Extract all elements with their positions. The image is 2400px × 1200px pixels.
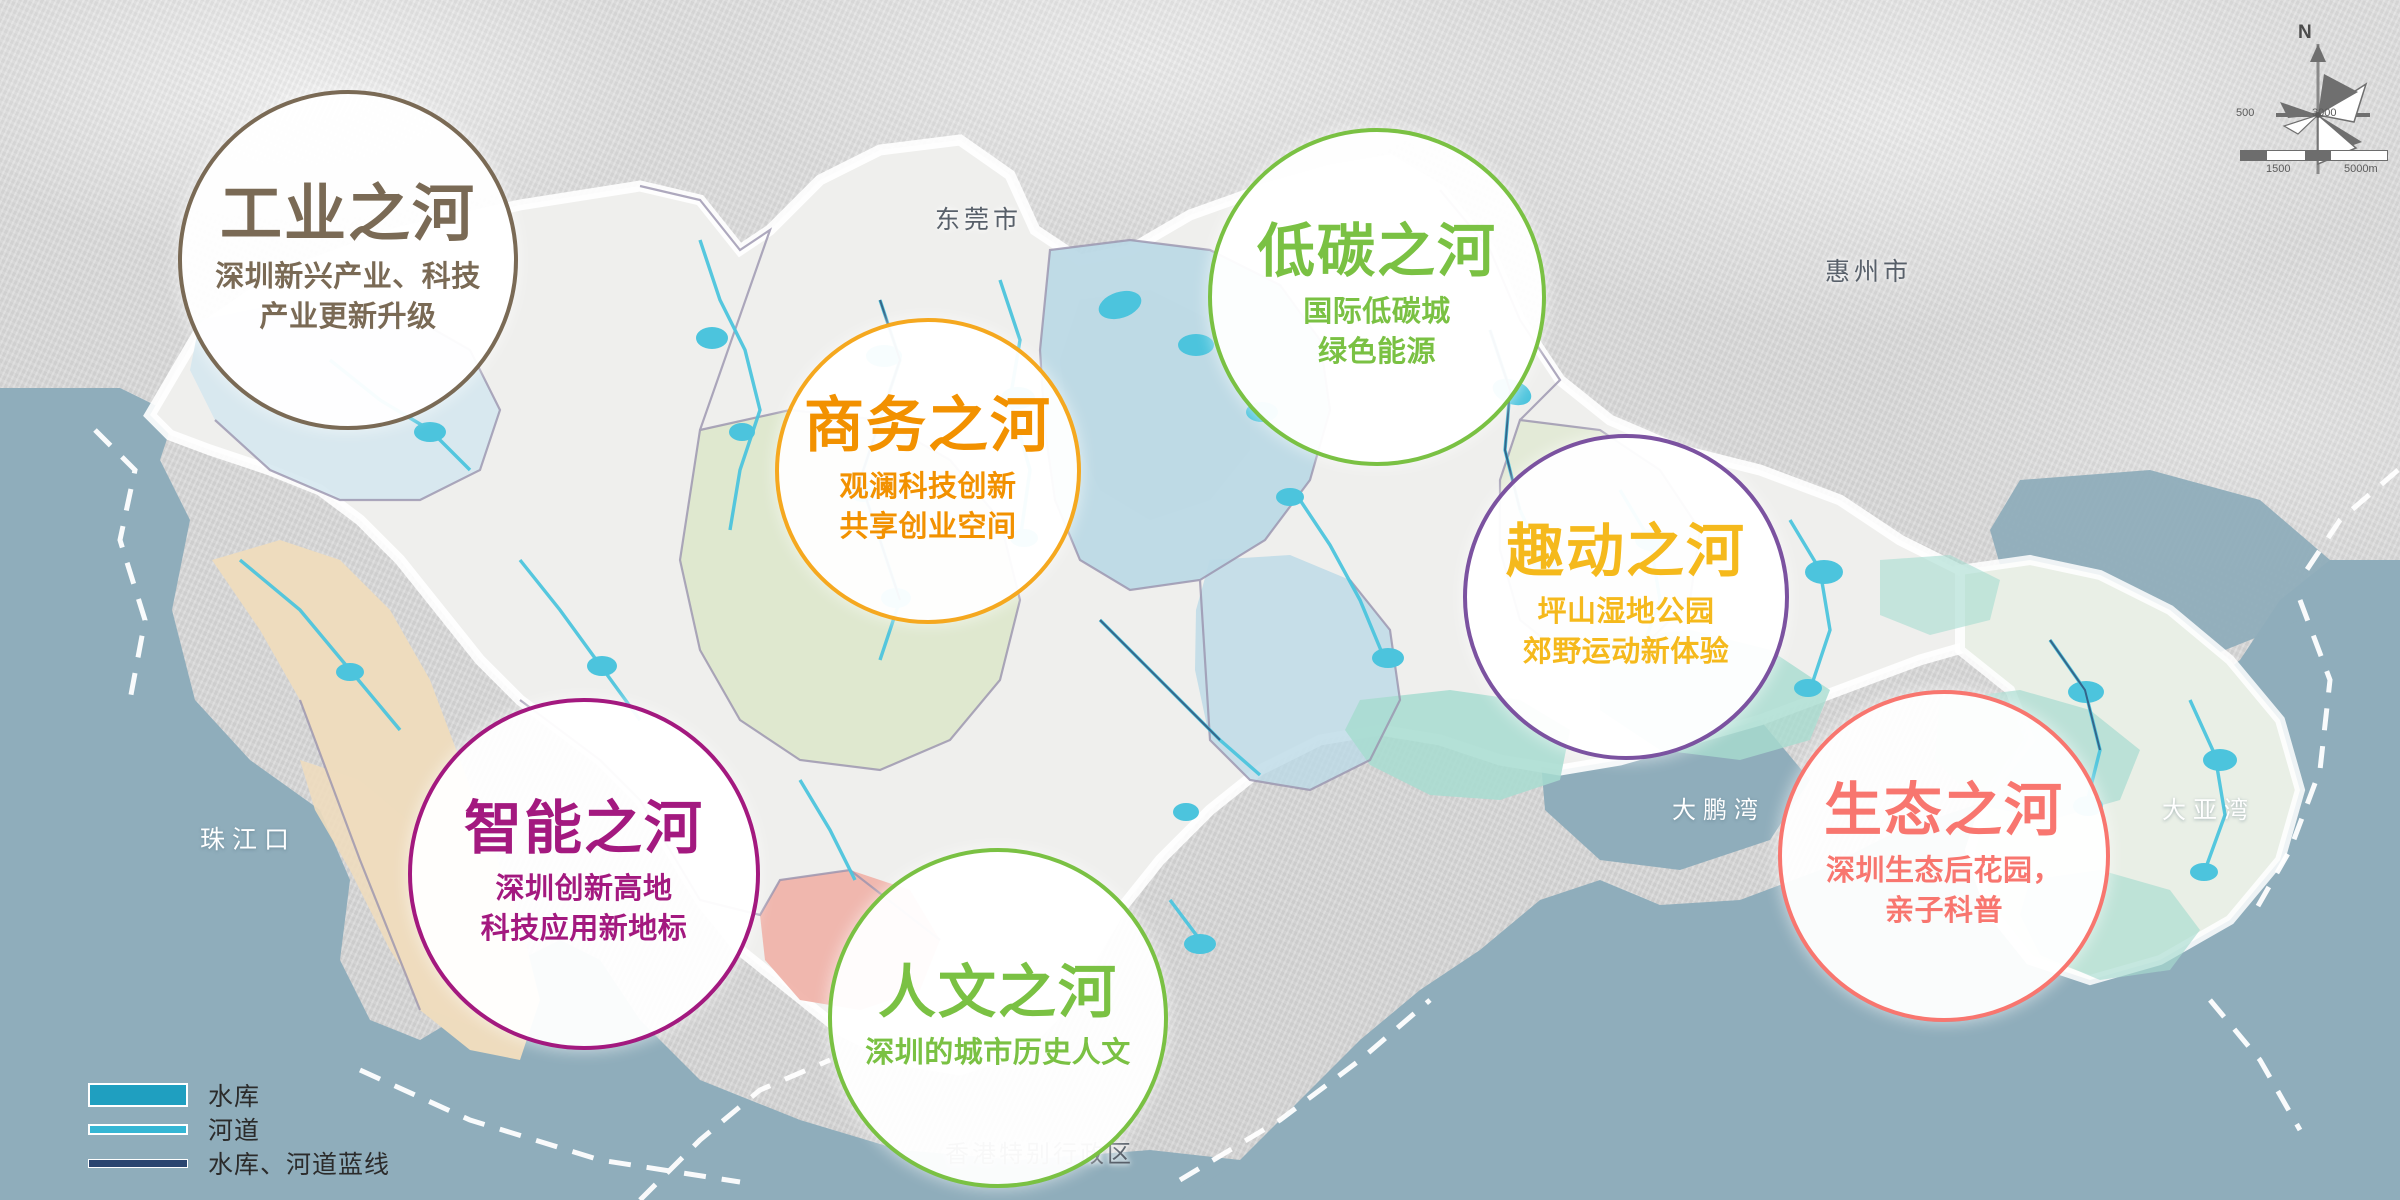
- blueline-swatch: [85, 1159, 190, 1168]
- place-label-0: 东莞市: [935, 200, 1022, 236]
- legend-item-reservoir: 水库: [85, 1078, 390, 1112]
- legend-item-river: 河道: [85, 1112, 390, 1146]
- bubble-title-culture: 人文之河: [878, 963, 1118, 1022]
- bubble-subtitle-line-recreation-0: 坪山湿地公园: [1523, 592, 1730, 632]
- bubble-title-recreation: 趣动之河: [1506, 522, 1746, 581]
- theme-bubble-culture[interactable]: 人文之河深圳的城市历史人文: [828, 848, 1168, 1188]
- bubble-subtitle-ecology: 深圳生态后花园，亲子科普: [1826, 851, 2062, 931]
- theme-bubble-business[interactable]: 商务之河观澜科技创新共享创业空间: [775, 318, 1081, 624]
- scale-label-5000m: 5000m: [2344, 163, 2378, 175]
- bubble-subtitle-line-ecology-0: 深圳生态后花园，: [1826, 851, 2062, 891]
- bubble-subtitle-line-business-0: 观澜科技创新: [839, 467, 1016, 507]
- scale-label-1500: 1500: [2266, 163, 2290, 175]
- bubble-subtitle-intelligence: 深圳创新高地科技应用新地标: [481, 869, 688, 949]
- reservoir-swatch: [85, 1083, 190, 1107]
- legend-label-reservoir: 水库: [208, 1077, 260, 1113]
- bubble-title-intelligence: 智能之河: [464, 799, 704, 858]
- bubble-subtitle-line-business-1: 共享创业空间: [839, 507, 1016, 547]
- compass-north-label: N: [2298, 22, 2312, 44]
- theme-bubble-industry[interactable]: 工业之河深圳新兴产业、科技产业更新升级: [178, 90, 518, 430]
- bubble-subtitle-lowcarbon: 国际低碳城绿色能源: [1303, 292, 1451, 372]
- map-legend: 水库 河道 水库、河道蓝线: [85, 1078, 390, 1180]
- legend-label-river: 河道: [208, 1111, 260, 1147]
- bubble-title-industry: 工业之河: [220, 183, 476, 246]
- place-label-2: 珠江口: [200, 820, 296, 856]
- bubble-subtitle-recreation: 坪山湿地公园郊野运动新体验: [1523, 592, 1730, 672]
- bubble-subtitle-business: 观澜科技创新共享创业空间: [839, 467, 1016, 547]
- place-label-3: 大鹏湾: [1672, 790, 1765, 825]
- scale-label-500: 500: [2236, 107, 2254, 119]
- bubble-subtitle-line-lowcarbon-0: 国际低碳城: [1303, 292, 1451, 332]
- map-infographic: 东莞市惠州市珠江口大鹏湾大亚湾香港特别行政区 N 500 3000 1500 5…: [0, 0, 2400, 1200]
- bubble-subtitle-line-industry-1: 产业更新升级: [215, 297, 481, 337]
- scale-bar: 500 3000 1500 5000m: [2240, 122, 2390, 189]
- bubble-subtitle-line-culture-0: 深圳的城市历史人文: [865, 1033, 1131, 1073]
- bubble-subtitle-line-industry-0: 深圳新兴产业、科技: [215, 257, 481, 297]
- theme-bubble-intelligence[interactable]: 智能之河深圳创新高地科技应用新地标: [408, 698, 760, 1050]
- bubble-subtitle-line-intelligence-1: 科技应用新地标: [481, 909, 688, 949]
- bubble-subtitle-line-lowcarbon-1: 绿色能源: [1303, 332, 1451, 372]
- bubble-subtitle-culture: 深圳的城市历史人文: [865, 1033, 1131, 1073]
- bubble-subtitle-line-intelligence-0: 深圳创新高地: [481, 869, 688, 909]
- bubble-title-lowcarbon: 低碳之河: [1257, 222, 1497, 281]
- river-swatch: [85, 1124, 190, 1135]
- theme-bubble-ecology[interactable]: 生态之河深圳生态后花园，亲子科普: [1778, 690, 2110, 1022]
- legend-item-blueline: 水库、河道蓝线: [85, 1146, 390, 1180]
- bubble-subtitle-industry: 深圳新兴产业、科技产业更新升级: [215, 257, 481, 337]
- scale-label-3000: 3000: [2312, 107, 2336, 119]
- theme-bubble-lowcarbon[interactable]: 低碳之河国际低碳城绿色能源: [1208, 128, 1546, 466]
- place-label-1: 惠州市: [1825, 252, 1912, 288]
- bubble-subtitle-line-ecology-1: 亲子科普: [1826, 891, 2062, 931]
- bubble-title-ecology: 生态之河: [1824, 781, 2064, 840]
- theme-bubble-recreation[interactable]: 趣动之河坪山湿地公园郊野运动新体验: [1463, 434, 1789, 760]
- scale-bar-graphic: [2240, 150, 2388, 161]
- bubble-subtitle-line-recreation-1: 郊野运动新体验: [1523, 632, 1730, 672]
- place-label-4: 大亚湾: [2162, 790, 2255, 825]
- bubble-title-business: 商务之河: [804, 395, 1052, 456]
- legend-label-blueline: 水库、河道蓝线: [208, 1145, 390, 1181]
